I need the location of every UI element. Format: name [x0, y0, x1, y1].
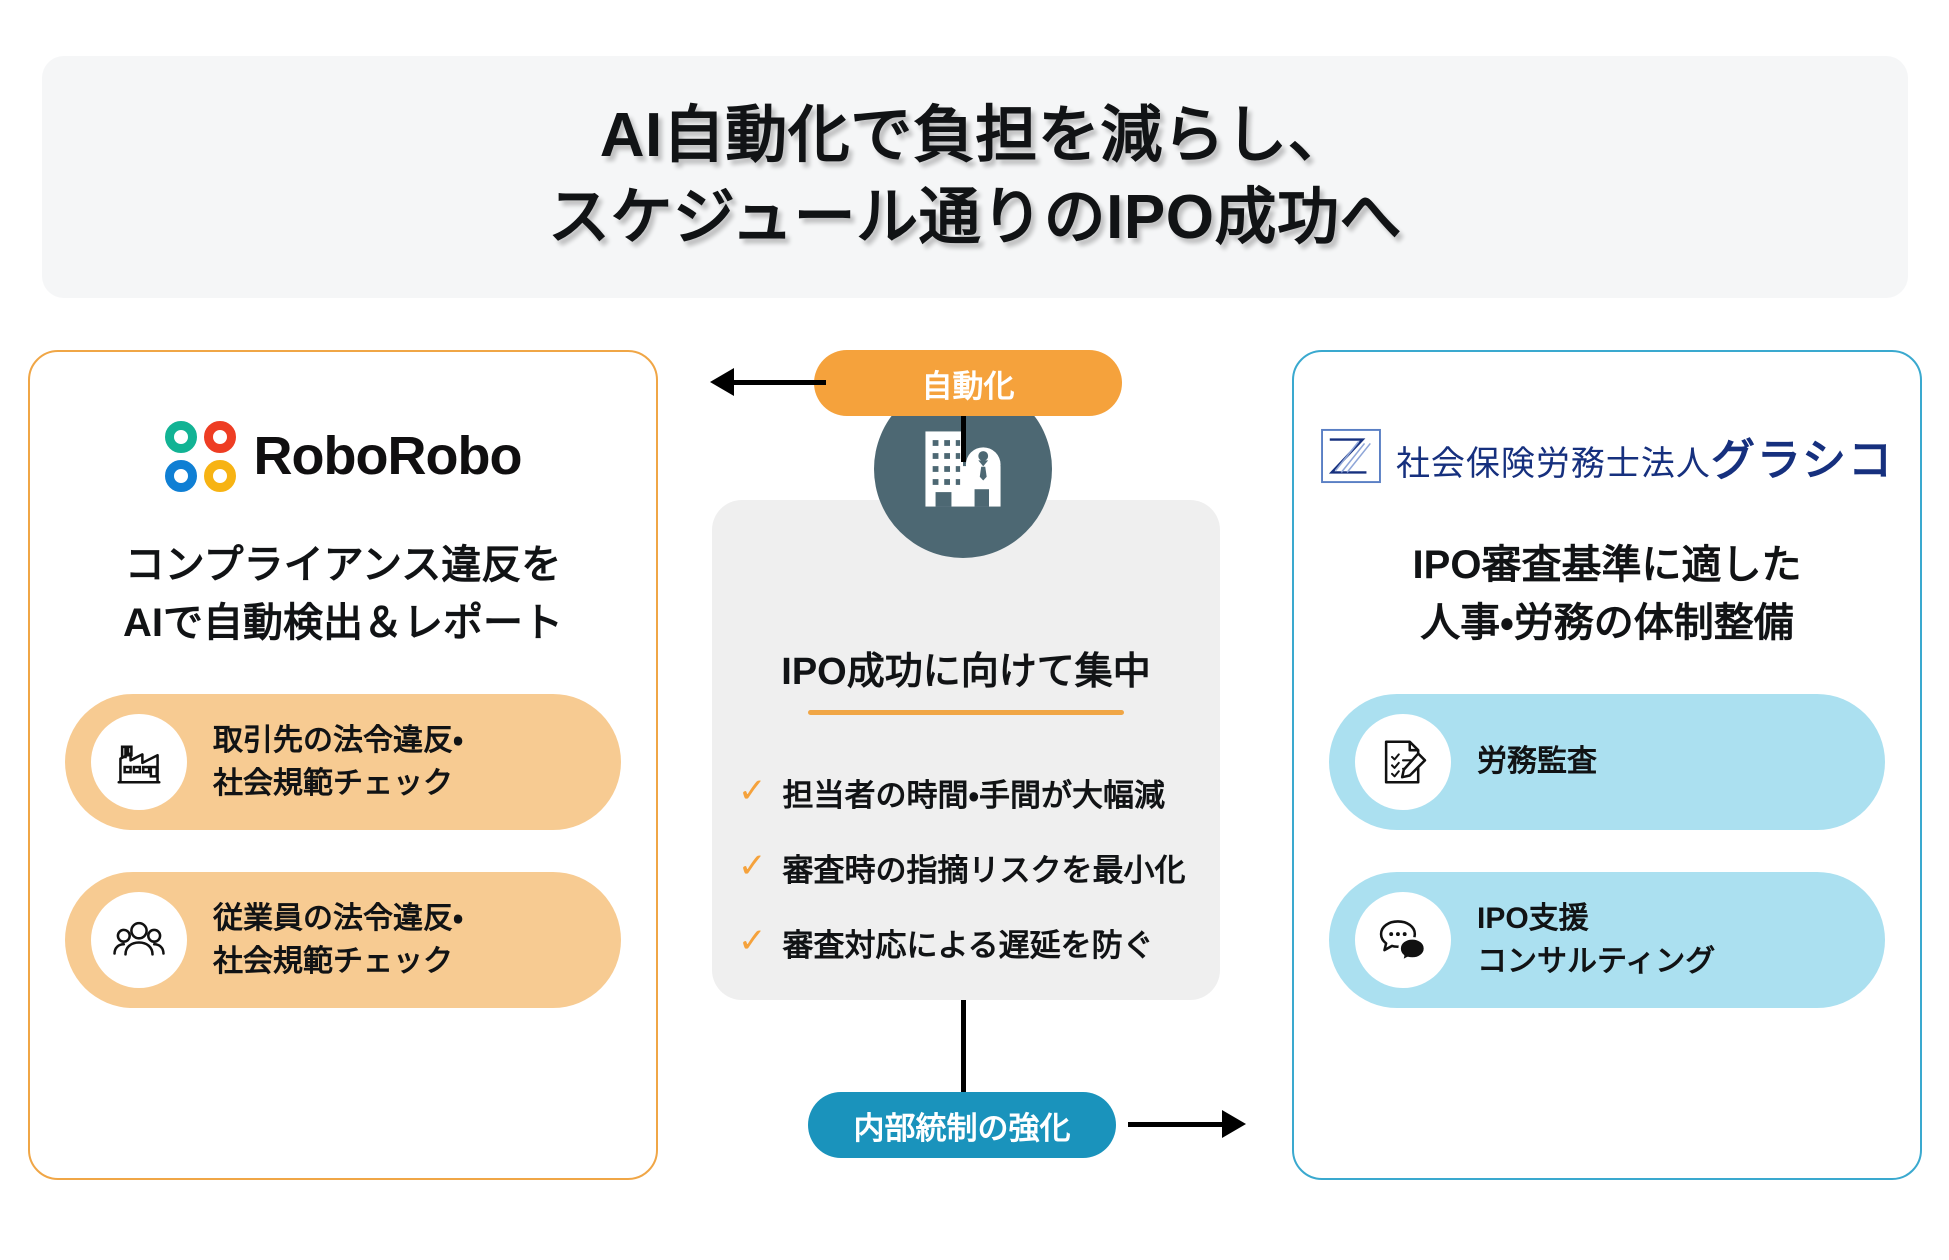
pill-employee-compliance-label: 従業員の法令違反・ 社会規範チェック [213, 897, 463, 984]
check-item-label: 審査対応による遅延を防ぐ [783, 920, 1154, 965]
clipboard-pencil-icon [1355, 714, 1451, 810]
check-icon: ✓ [738, 849, 767, 883]
pill-ipo-consulting-label: IPO支援 コンサルティング [1477, 897, 1715, 984]
people-group-icon [91, 892, 187, 988]
glasico-logo: 社会保険労務士法人グラシコ [1294, 404, 1920, 508]
arrow-to-left-card-head-icon [710, 368, 734, 396]
glasico-wordmark: 社会保険労務士法人グラシコ [1396, 424, 1894, 488]
center-title-underline [808, 710, 1124, 715]
left-card-roborobo: RoboRobo コンプライアンス違反を AIで自動検出＆レポート [28, 350, 658, 1180]
roborobo-rings-icon [165, 421, 236, 492]
pill-label-line-2: 社会規範チェック [213, 762, 463, 806]
arrow-to-right-card-line [1128, 1122, 1232, 1127]
center-check-list: ✓ 担当者の時間・手間が大幅減 ✓ 審査時の指摘リスクを最小化 ✓ 審査対応によ… [738, 770, 1208, 965]
pill-label-line-2: 社会規範チェック [213, 940, 463, 984]
connector-badge-to-hub [961, 416, 966, 462]
pill-label-line-2: コンサルティング [1477, 940, 1715, 984]
pill-label-line-1: 労務監査 [1477, 740, 1597, 784]
ring-red-icon [204, 421, 236, 453]
check-item-label: 審査時の指摘リスクを最小化 [783, 845, 1186, 890]
check-item: ✓ 審査時の指摘リスクを最小化 [738, 845, 1208, 890]
pill-label-line-1: 従業員の法令違反・ [213, 897, 463, 941]
arrow-to-right-card-head-icon [1222, 1110, 1246, 1138]
glasico-z-mark-icon [1320, 428, 1382, 484]
left-card-heading: コンプライアンス違反を AIで自動検出＆レポート [30, 536, 656, 652]
infographic-canvas: AI自動化で負担を減らし、 スケジュール通りのIPO成功へ RoboRobo コ… [0, 0, 1949, 1260]
check-icon: ✓ [738, 924, 767, 958]
badge-automation[interactable]: 自動化 [814, 350, 1122, 416]
ring-blue-icon [165, 460, 197, 492]
pill-partner-compliance-label: 取引先の法令違反・ 社会規範チェック [213, 719, 463, 806]
check-item: ✓ 担当者の時間・手間が大幅減 [738, 770, 1208, 815]
right-heading-line-1: IPO審査基準に適した [1294, 536, 1920, 594]
check-item: ✓ 審査対応による遅延を防ぐ [738, 920, 1208, 965]
title-line-2: スケジュール通りのIPO成功へ [548, 177, 1402, 259]
pill-label-line-1: 取引先の法令違反・ [213, 719, 463, 763]
factory-icon [91, 714, 187, 810]
pill-partner-compliance[interactable]: 取引先の法令違反・ 社会規範チェック [65, 694, 621, 830]
check-item-label: 担当者の時間・手間が大幅減 [783, 770, 1166, 815]
connector-card-to-bottom-badge [961, 1000, 966, 1092]
ring-yellow-icon [204, 460, 236, 492]
glasico-prefix: 社会保険労務士法人 [1396, 445, 1711, 483]
right-card-heading: IPO審査基準に適した 人事・労務の体制整備 [1294, 536, 1920, 652]
right-pill-stack: 労務監査 IPO支援 コンサルティング [1294, 694, 1920, 1008]
chat-bubbles-icon [1355, 892, 1451, 988]
right-heading-line-2: 人事・労務の体制整備 [1294, 594, 1920, 652]
pill-employee-compliance[interactable]: 従業員の法令違反・ 社会規範チェック [65, 872, 621, 1008]
roborobo-logo: RoboRobo [30, 404, 656, 508]
left-pill-stack: 取引先の法令違反・ 社会規範チェック 従業員の法令違反・ [30, 694, 656, 1008]
check-icon: ✓ [738, 774, 767, 808]
right-card-glasico: 社会保険労務士法人グラシコ IPO審査基準に適した 人事・労務の体制整備 [1292, 350, 1922, 1180]
arrow-to-left-card-line [722, 380, 826, 385]
title-banner: AI自動化で負担を減らし、 スケジュール通りのIPO成功へ [42, 56, 1908, 298]
pill-labor-audit-label: 労務監査 [1477, 740, 1597, 784]
title-line-1: AI自動化で負担を減らし、 [600, 95, 1351, 177]
pill-label-line-1: IPO支援 [1477, 897, 1715, 941]
pill-labor-audit[interactable]: 労務監査 [1329, 694, 1885, 830]
ring-green-icon [165, 421, 197, 453]
pill-ipo-consulting[interactable]: IPO支援 コンサルティング [1329, 872, 1885, 1008]
glasico-kana: グラシコ [1711, 436, 1894, 485]
left-heading-line-2: AIで自動検出＆レポート [30, 594, 656, 652]
left-heading-line-1: コンプライアンス違反を [30, 536, 656, 594]
roborobo-wordmark: RoboRobo [254, 425, 522, 487]
badge-internal-control[interactable]: 内部統制の強化 [808, 1092, 1116, 1158]
